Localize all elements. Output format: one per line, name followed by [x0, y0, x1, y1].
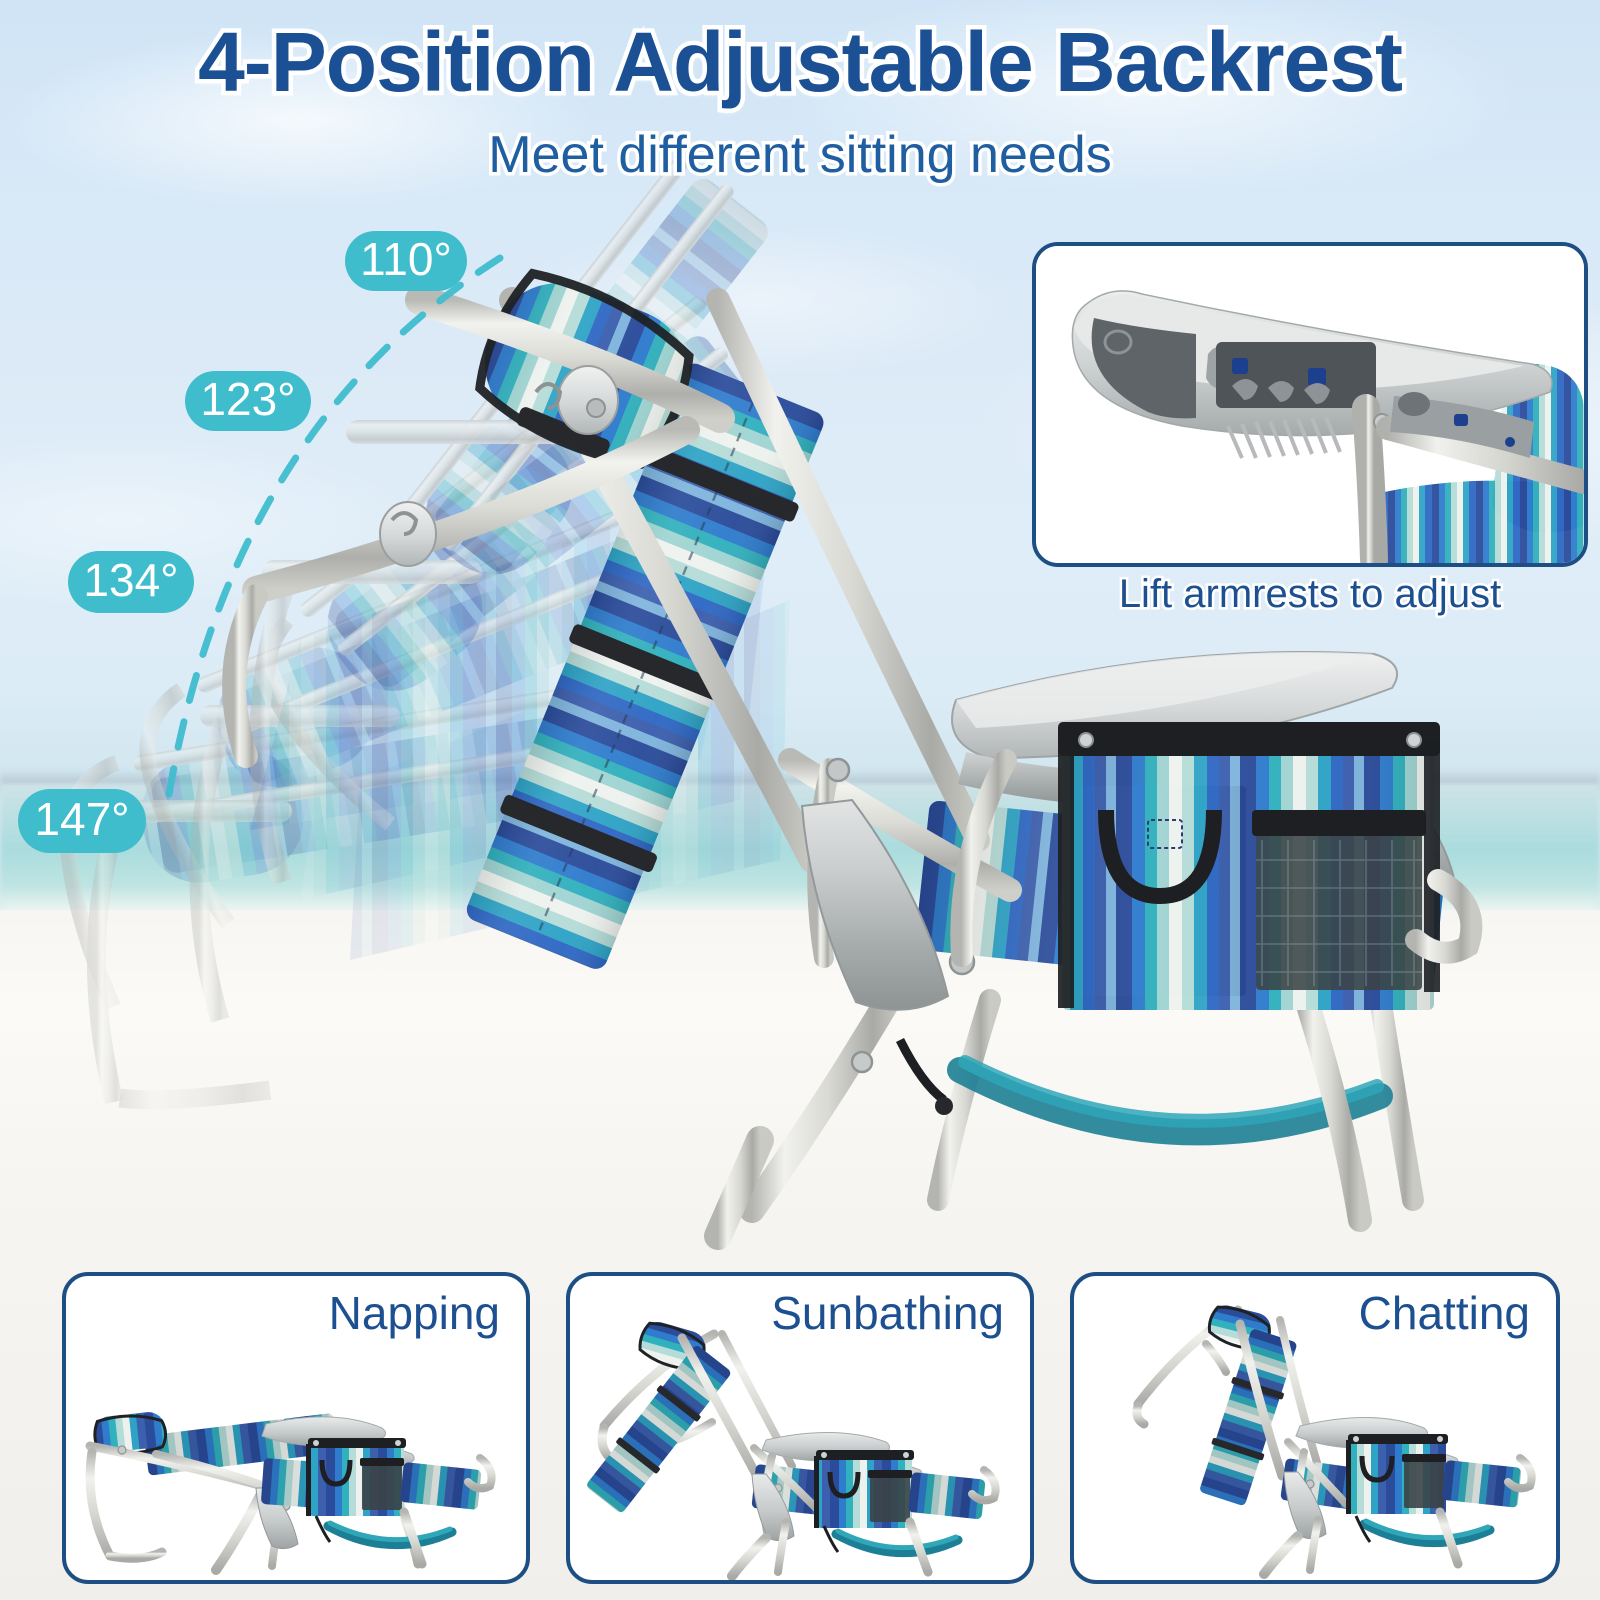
usage-scenarios: Napping: [0, 1272, 1600, 1584]
side-storage-pouch: [1058, 722, 1440, 1010]
scenario-panel-chatting: Chatting: [1070, 1272, 1560, 1584]
armrest-mechanism-icon: [1036, 246, 1584, 563]
scenario-panel-sunbathing: Sunbathing: [566, 1272, 1034, 1584]
angle-badge-123: 123°: [185, 371, 311, 431]
header-block: 4-Position Adjustable Backrest Meet diff…: [0, 14, 1600, 185]
angle-badge-110: 110°: [345, 231, 467, 291]
page-title: 4-Position Adjustable Backrest: [0, 14, 1600, 111]
armrest-closeup-panel: [1032, 242, 1588, 567]
beach-chair-upright-icon: [1074, 1276, 1556, 1580]
beach-chair-half-reclined-icon: [570, 1276, 1030, 1580]
angle-badge-147: 147°: [18, 789, 146, 853]
page-subtitle: Meet different sitting needs: [0, 125, 1600, 185]
armrest-closeup-caption: Lift armrests to adjust: [1032, 572, 1588, 617]
scenario-panel-napping: Napping: [62, 1272, 530, 1584]
angle-badge-134: 134°: [68, 551, 194, 613]
beach-chair-fully-reclined-icon: [66, 1276, 526, 1580]
